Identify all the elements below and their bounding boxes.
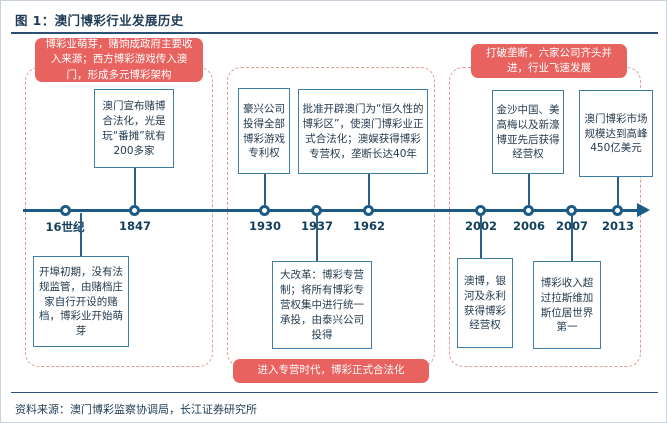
timeline-arrow-icon xyxy=(637,203,650,217)
timeline-node-1[interactable] xyxy=(60,205,71,216)
era-banner-1-text: 博彩业萌芽，赌饷成政府主要收入来源；西方博彩游戏传入澳门，形成多元博彩架构 xyxy=(43,37,195,83)
stem-2006 xyxy=(528,174,530,206)
event-box-2013[interactable]: 澳门博彩市场规模达到高峰450亿美元 xyxy=(579,90,653,177)
event-box-2006[interactable]: 金沙中国、美高梅以及新濠博亚先后获得经营权 xyxy=(492,90,564,174)
event-box-16century[interactable]: 开埠初期，没有法规监管，由赌档庄家自行开设的赌档，博彩业开始萌芽 xyxy=(33,256,129,347)
event-box-1847-text: 澳门宣布赌博合法化，光是玩“番摊”就有200多家 xyxy=(98,99,170,159)
era-banner-2: 进入专营时代，博彩正式合法化 xyxy=(233,359,429,383)
figure-container: 图 1：澳门博彩行业发展历史 16世纪 1847 1930 1937 1962 … xyxy=(0,0,667,423)
event-box-2013-text: 澳门博彩市场规模达到高峰450亿美元 xyxy=(583,112,649,157)
page-title: 图 1：澳门博彩行业发展历史 xyxy=(15,10,184,29)
era-banner-3: 打破垄断，六家公司齐头并进，行业飞速发展 xyxy=(471,44,627,78)
event-box-1962-text: 批准开辟澳门为“恒久性的博彩区”，使澳门博彩业正式合法化；澳娱获得博彩专营权，垄… xyxy=(302,102,424,162)
stem-2007 xyxy=(571,213,573,261)
event-box-1962[interactable]: 批准开辟澳门为“恒久性的博彩区”，使澳门博彩业正式合法化；澳娱获得博彩专营权，垄… xyxy=(298,89,428,174)
event-box-2002-text: 澳博，银河及永利获得博彩经营权 xyxy=(461,274,509,334)
era-banner-3-text: 打破垄断，六家公司齐头并进，行业飞速发展 xyxy=(479,46,619,76)
event-box-1847[interactable]: 澳门宣布赌博合法化，光是玩“番摊”就有200多家 xyxy=(94,89,174,168)
event-box-16century-text: 开埠初期，没有法规监管，由赌档庄家自行开设的赌档，博彩业开始萌芽 xyxy=(37,265,125,340)
timeline-node-5[interactable] xyxy=(363,205,374,216)
event-box-1937[interactable]: 大改革：博彩专营制；将所有博彩专营权集中进行统一承投，由泰兴公司投得 xyxy=(272,261,372,349)
year-label-2006: 2006 xyxy=(513,219,545,233)
source-note: 资料来源：澳门博彩监察协调局，长江证券研究所 xyxy=(15,401,257,417)
event-box-1930[interactable]: 豪兴公司投得全部博彩游戏专利权 xyxy=(238,88,290,174)
stem-1962 xyxy=(368,174,370,206)
stem-2013 xyxy=(617,177,619,206)
event-box-1937-text: 大改革：博彩专营制；将所有博彩专营权集中进行统一承投，由泰兴公司投得 xyxy=(276,268,368,343)
year-label-1962: 1962 xyxy=(353,219,385,233)
year-label-1847: 1847 xyxy=(119,219,151,233)
year-label-2013: 2013 xyxy=(602,219,634,233)
timeline-node-9[interactable] xyxy=(612,205,623,216)
timeline-node-7[interactable] xyxy=(523,205,534,216)
event-box-2002[interactable]: 澳博，银河及永利获得博彩经营权 xyxy=(457,258,513,348)
title-divider xyxy=(11,32,658,34)
stem-2002 xyxy=(480,213,482,258)
timeline-node-3[interactable] xyxy=(259,205,270,216)
stem-16century xyxy=(80,213,82,256)
stem-1847 xyxy=(134,168,136,206)
event-box-2007-text: 博彩收入超过拉斯维加斯位居世界第一 xyxy=(537,276,597,336)
stem-1937 xyxy=(316,213,318,261)
timeline-node-2[interactable] xyxy=(129,205,140,216)
year-label-1930: 1930 xyxy=(249,219,281,233)
era-banner-2-text: 进入专营时代，博彩正式合法化 xyxy=(241,363,421,378)
year-label-16century: 16世纪 xyxy=(45,219,84,235)
era-banner-1: 博彩业萌芽，赌饷成政府主要收入来源；西方博彩游戏传入澳门，形成多元博彩架构 xyxy=(35,38,203,82)
timeline-axis xyxy=(23,209,638,212)
stem-1930 xyxy=(264,174,266,206)
event-box-1930-text: 豪兴公司投得全部博彩游戏专利权 xyxy=(242,102,286,162)
footer-divider xyxy=(11,392,658,393)
event-box-2007[interactable]: 博彩收入超过拉斯维加斯位居世界第一 xyxy=(533,261,601,349)
event-box-2006-text: 金沙中国、美高梅以及新濠博亚先后获得经营权 xyxy=(496,103,560,163)
